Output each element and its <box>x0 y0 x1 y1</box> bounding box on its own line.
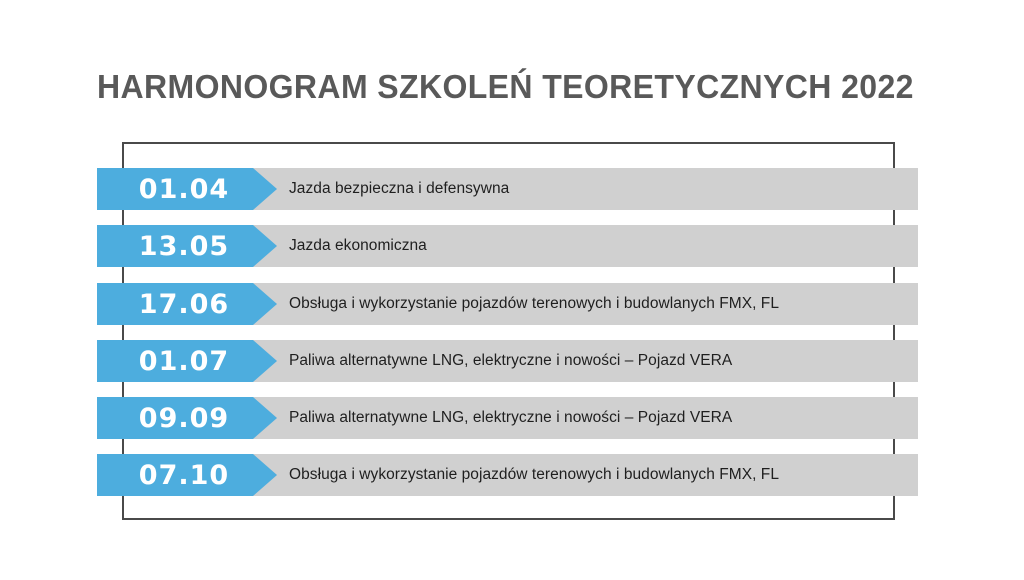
schedule-row[interactable]: 01.04 Jazda bezpieczna i defensywna <box>97 168 918 210</box>
row-date: 13.05 <box>97 225 257 267</box>
schedule-row[interactable]: 01.07 Paliwa alternatywne LNG, elektrycz… <box>97 340 918 382</box>
row-date: 01.04 <box>97 168 257 210</box>
row-date: 01.07 <box>97 340 257 382</box>
schedule-poster: HARMONOGRAM SZKOLEŃ TEORETYCZNYCH 2022 0… <box>0 0 1024 580</box>
row-date: 09.09 <box>97 397 257 439</box>
row-date: 17.06 <box>97 283 257 325</box>
row-date: 07.10 <box>97 454 257 496</box>
row-topic: Obsługa i wykorzystanie pojazdów terenow… <box>289 454 779 496</box>
schedule-row[interactable]: 13.05 Jazda ekonomiczna <box>97 225 918 267</box>
row-topic: Jazda ekonomiczna <box>289 225 427 267</box>
page-title: HARMONOGRAM SZKOLEŃ TEORETYCZNYCH 2022 <box>97 68 914 106</box>
schedule-row[interactable]: 07.10 Obsługa i wykorzystanie pojazdów t… <box>97 454 918 496</box>
row-topic: Obsługa i wykorzystanie pojazdów terenow… <box>289 283 779 325</box>
schedule-row[interactable]: 09.09 Paliwa alternatywne LNG, elektrycz… <box>97 397 918 439</box>
row-topic: Paliwa alternatywne LNG, elektryczne i n… <box>289 397 732 439</box>
row-topic: Jazda bezpieczna i defensywna <box>289 168 509 210</box>
schedule-row[interactable]: 17.06 Obsługa i wykorzystanie pojazdów t… <box>97 283 918 325</box>
row-topic: Paliwa alternatywne LNG, elektryczne i n… <box>289 340 732 382</box>
